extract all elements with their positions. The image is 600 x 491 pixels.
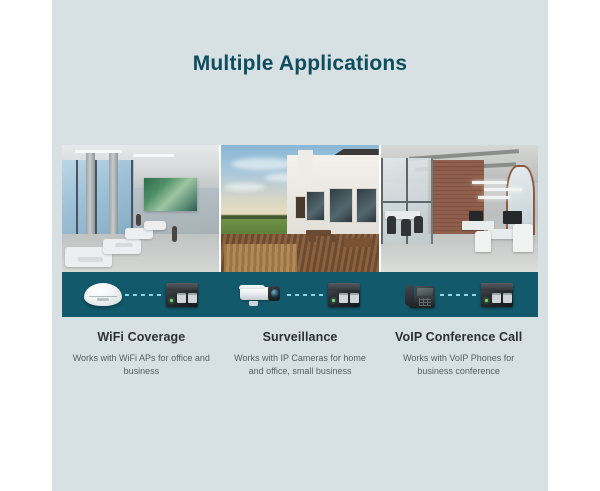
house-window	[356, 188, 377, 223]
sofa	[103, 239, 141, 254]
power-led-icon	[170, 299, 173, 302]
injector-top	[166, 283, 198, 290]
application-heading: Surveillance	[229, 330, 372, 344]
ap-brand-logo	[97, 298, 109, 301]
application-heading: WiFi Coverage	[70, 330, 213, 344]
dashed-ethernet-link	[125, 294, 163, 296]
application-description: Works with IP Cameras for home and offic…	[229, 352, 372, 378]
phone-keypad	[419, 298, 431, 306]
poe-injector-icon	[166, 283, 198, 307]
deck-lower-step	[224, 244, 296, 272]
pendant-light	[484, 188, 522, 191]
rj45-port	[503, 293, 512, 303]
meeting-chair	[387, 216, 396, 234]
patio-chair	[309, 235, 315, 241]
wall-artwork	[144, 178, 197, 211]
poe-injector-icon	[481, 283, 513, 307]
ceiling-access-point-icon	[84, 283, 122, 306]
patio-chair	[330, 235, 336, 241]
monitor	[469, 211, 483, 221]
application-voip-conference-call: VoIP Conference Call Works with VoIP Pho…	[379, 330, 538, 378]
pendant-light	[472, 181, 507, 184]
power-led-icon	[332, 299, 335, 302]
house-door	[295, 196, 306, 220]
office-chair	[513, 224, 533, 252]
camera-mount	[249, 301, 258, 306]
camera-sun-shade	[239, 285, 265, 289]
rj45-port	[188, 293, 197, 303]
rj45-port	[492, 293, 501, 303]
person	[172, 226, 177, 242]
dashed-ethernet-link	[287, 294, 325, 296]
bullet-ip-camera-icon	[240, 284, 284, 306]
photo-suburban-house-deck	[221, 145, 378, 272]
voip-desk-phone-icon	[405, 282, 437, 308]
page-root: Multiple Applications	[0, 0, 600, 491]
application-description: Works with WiFi APs for office and busin…	[70, 352, 213, 378]
voip-scene	[380, 272, 538, 317]
power-led-icon	[485, 299, 488, 302]
rj45-port	[177, 293, 186, 303]
application-heading: VoIP Conference Call	[387, 330, 530, 344]
coffee-table	[115, 243, 132, 247]
chimney	[298, 150, 312, 183]
cloud	[224, 183, 265, 191]
application-captions: WiFi Coverage Works with WiFi APs for of…	[62, 330, 538, 378]
coffee-table	[78, 257, 103, 262]
injector-top	[481, 283, 513, 290]
wifi-coverage-scene	[62, 272, 220, 317]
poe-injector-icon	[328, 283, 360, 307]
house-window	[329, 188, 353, 223]
house-window	[306, 191, 325, 221]
ap-seam	[89, 296, 117, 297]
office-chair	[475, 231, 491, 251]
photo-strip	[62, 145, 538, 272]
meeting-chair	[401, 219, 410, 237]
ceiling-light-strip	[133, 154, 174, 157]
rj45-port	[350, 293, 359, 303]
glass-frame	[381, 201, 431, 203]
monitor	[503, 211, 522, 224]
content-panel: Multiple Applications	[52, 0, 548, 491]
application-wifi-coverage: WiFi Coverage Works with WiFi APs for of…	[62, 330, 221, 378]
injector-top	[328, 283, 360, 290]
sofa	[144, 221, 166, 230]
rj45-port	[339, 293, 348, 303]
dashed-ethernet-link	[440, 294, 478, 296]
meeting-chair	[414, 216, 423, 233]
camera-lens-glass	[271, 289, 279, 298]
application-surveillance: Surveillance Works with IP Cameras for h…	[221, 330, 380, 378]
device-diagram-band	[62, 272, 538, 317]
phone-handset	[405, 285, 414, 306]
photo-modern-office-lounge	[62, 145, 219, 272]
pendant-light	[478, 196, 509, 199]
application-description: Works with VoIP Phones for business conf…	[387, 352, 530, 378]
page-title: Multiple Applications	[52, 52, 548, 76]
surveillance-scene	[220, 272, 380, 317]
patio-lounger	[344, 238, 372, 247]
person	[136, 214, 141, 226]
ap-dome	[84, 283, 122, 306]
photo-industrial-open-office	[381, 145, 538, 272]
